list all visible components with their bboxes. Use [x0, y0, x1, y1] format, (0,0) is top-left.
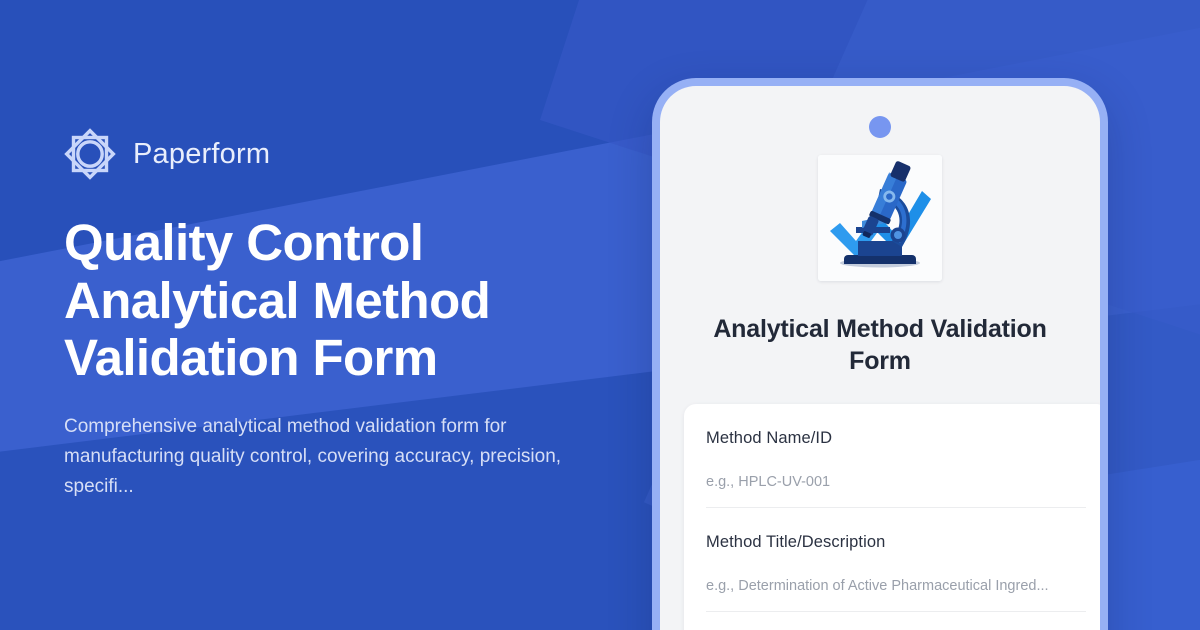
microscope-illustration [818, 155, 942, 281]
form-title: Analytical Method Validation Form [660, 314, 1100, 377]
brand-lockup: Paperform [64, 128, 624, 180]
paperform-logo-icon [64, 128, 116, 180]
phone-mockup: Analytical Method Validation Form Method… [652, 78, 1108, 630]
form-field-method-title: Method Title/Description e.g., Determina… [706, 508, 1086, 612]
method-name-input[interactable]: e.g., HPLC-UV-001 [706, 474, 1086, 508]
camera-dot-icon [869, 116, 891, 138]
promo-banner: Paperform Quality Control Analytical Met… [0, 0, 1200, 630]
page-description: Comprehensive analytical method validati… [64, 412, 564, 502]
brand-name: Paperform [133, 138, 270, 171]
field-label: Method Title/Description [706, 533, 1086, 552]
method-title-input[interactable]: e.g., Determination of Active Pharmaceut… [706, 578, 1086, 612]
field-label: Method Name/ID [706, 429, 1086, 448]
hero-text-column: Paperform Quality Control Analytical Met… [64, 0, 624, 630]
form-card: Method Name/ID e.g., HPLC-UV-001 Method … [684, 404, 1108, 630]
form-field-method-name: Method Name/ID e.g., HPLC-UV-001 [706, 404, 1086, 508]
page-title: Quality Control Analytical Method Valida… [64, 214, 534, 387]
